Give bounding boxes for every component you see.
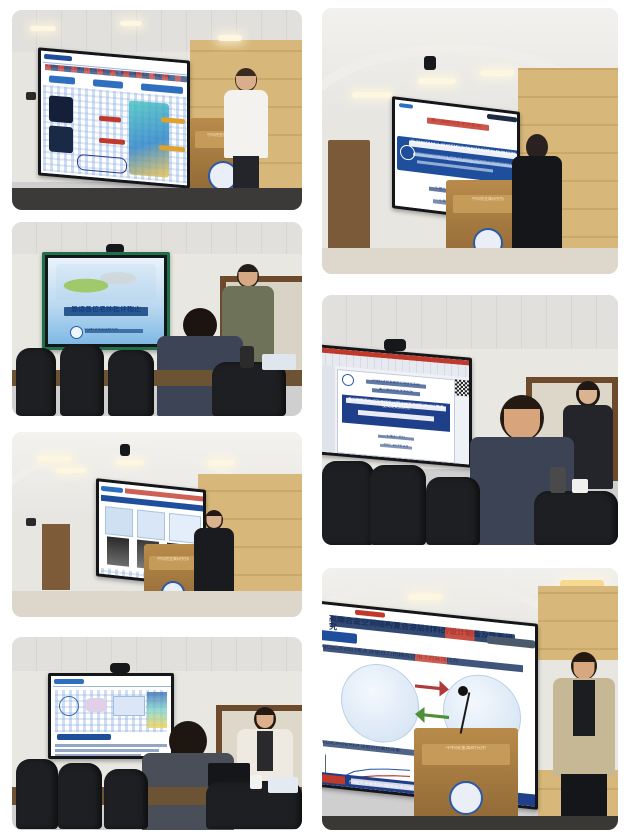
formula-band <box>57 734 111 740</box>
slide-tab <box>101 486 123 493</box>
office-chair <box>16 759 58 829</box>
slide-logo <box>399 103 413 109</box>
photo-1-scene: 大型科技项目成果转化存在成果转化率低、高附加值转化少、转化不畅。 <box>12 10 302 210</box>
slide-badge <box>487 114 517 123</box>
campus-render <box>56 264 156 300</box>
qr-code <box>455 379 469 396</box>
schematic-node <box>85 698 107 712</box>
ceiling-light <box>218 35 242 41</box>
paper-cup <box>250 775 262 789</box>
micrograph <box>107 536 129 566</box>
arrow-forward <box>415 678 449 698</box>
panel <box>105 506 133 537</box>
office-chair <box>322 461 374 545</box>
screen-surface: 大型科技项目成果转化存在成果转化率低、高附加值转化少、转化不畅。 <box>41 51 187 186</box>
slide-thumbnail-pane <box>322 364 335 453</box>
office-chair <box>58 763 102 829</box>
door <box>42 524 70 590</box>
closing-headline-pixels <box>64 307 148 316</box>
photo-3-scene: 恳请各位老师批评指正 中国科学院金属研究所 <box>12 222 302 416</box>
photo-7[interactable]: 高熵合金空洞结构复合涂层材料的设计制备及性能研究 AlCoCrFeNi HEA … <box>322 568 618 830</box>
screen-surface: 恳请各位老师批评指正 中国科学院金属研究所 <box>48 258 164 344</box>
slide-chip <box>93 79 123 89</box>
microphone-head <box>458 686 468 696</box>
presentation-screen: 大型科技项目成果转化存在成果转化率低、高附加值转化少、转化不畅。 <box>38 47 190 188</box>
ceiling-light <box>56 468 86 473</box>
floor <box>12 188 302 210</box>
office-chair <box>108 350 154 416</box>
presentation-screen: 中国科学院金属研究所研究生院 第八届研究生学术论坛 氢分解制氢反应在高熵氮化物@… <box>322 344 472 468</box>
podium-text: 中科院金属研究所 <box>422 746 509 751</box>
office-chair <box>370 465 426 545</box>
photo-4[interactable]: 中国科学院金属研究所研究生院 第八届研究生学术论坛 氢分解制氢反应在高熵氮化物@… <box>322 295 618 545</box>
panel <box>137 510 165 541</box>
name-card <box>268 777 298 793</box>
institute-emblem <box>70 326 83 339</box>
woman-inner-top <box>257 731 273 771</box>
photo-collage: 大型科技项目成果转化存在成果转化率低、高附加值转化少、转化不畅。 <box>0 0 630 840</box>
photo-4-scene: 中国科学院金属研究所研究生院 第八届研究生学术论坛 氢分解制氢反应在高熵氮化物@… <box>322 295 618 545</box>
photo-5[interactable]: 中科院金属研究所 <box>12 432 302 617</box>
office-chair <box>212 362 286 416</box>
slide-tab <box>54 679 84 684</box>
wall-speaker <box>26 92 36 100</box>
photo-5-scene: 中科院金属研究所 <box>12 432 302 617</box>
schematic-node <box>59 696 79 716</box>
thermos <box>240 346 254 368</box>
office-chair <box>16 348 56 416</box>
ceiling-light <box>38 456 72 461</box>
speaker <box>550 652 618 830</box>
photo-6[interactable] <box>12 637 302 830</box>
office-chair <box>534 491 618 545</box>
floor <box>322 248 618 274</box>
slide-canvas: 中国科学院金属研究所研究生院 第八届研究生学术论坛 氢分解制氢反应在高熵氮化物@… <box>337 369 455 463</box>
ceiling-light <box>208 460 234 466</box>
micrograph-thumb <box>49 125 73 153</box>
paper-cup <box>572 479 588 493</box>
door <box>328 140 370 250</box>
ceiling <box>12 222 302 256</box>
slide-technical-roadmap: 大型科技项目成果转化存在成果转化率低、高附加值转化少、转化不畅。 <box>41 51 187 186</box>
office-chair <box>426 477 480 545</box>
photo-2-scene: 第八届研究生学术论坛 高温超级分子复合材料的结构化设计与作用机制 Enginee… <box>322 8 618 274</box>
man-face <box>504 409 540 439</box>
slide-section-tag <box>355 610 385 618</box>
presentation-screen: 恳请各位老师批评指正 中国科学院金属研究所 <box>42 252 170 350</box>
ceiling-camera <box>120 444 130 456</box>
floor <box>322 816 618 830</box>
photo-3[interactable]: 恳请各位老师批评指正 中国科学院金属研究所 <box>12 222 302 416</box>
speaker-legs <box>233 156 259 190</box>
micrograph-thumb <box>49 95 73 123</box>
podium-text: 中科院金属研究所 <box>149 557 198 561</box>
screen-surface: 中国科学院金属研究所研究生院 第八届研究生学术论坛 氢分解制氢反应在高熵氮化物@… <box>322 347 469 464</box>
bullet-line <box>55 754 141 756</box>
schematic-block <box>113 696 145 716</box>
ceiling-camera <box>110 663 130 673</box>
ceiling-light <box>418 78 456 84</box>
speaker <box>218 68 274 190</box>
speaker-torso <box>224 90 268 158</box>
ceiling-light <box>120 21 142 26</box>
sphere-diagram-left <box>341 660 419 746</box>
slide-chip <box>49 75 75 84</box>
org-line-2-pixels <box>372 388 420 396</box>
photo-7-scene: 高熵合金空洞结构复合涂层材料的设计制备及性能研究 AlCoCrFeNi HEA … <box>322 568 618 830</box>
slide-powerpoint-edit: 中国科学院金属研究所研究生院 第八届研究生学术论坛 氢分解制氢反应在高熵氮化物@… <box>322 347 469 464</box>
ceiling-light <box>30 26 56 31</box>
ceiling-light <box>480 70 514 76</box>
speaker-inner-top <box>573 680 595 736</box>
institute-logo <box>449 781 483 815</box>
podium: 中科院金属研究所 <box>414 728 518 830</box>
photo-6-scene <box>12 637 302 830</box>
ceiling-camera <box>424 56 436 70</box>
office-chair <box>104 769 148 829</box>
photo-2[interactable]: 第八届研究生学术论坛 高温超级分子复合材料的结构化设计与作用机制 Enginee… <box>322 8 618 274</box>
slide-chip <box>141 83 183 94</box>
wall-speaker <box>26 518 36 526</box>
forum-line-pixels <box>427 117 489 131</box>
ceiling <box>322 295 618 351</box>
slide-tab <box>44 54 72 61</box>
slide-closing: 恳请各位老师批评指正 中国科学院金属研究所 <box>48 258 164 344</box>
thermos <box>550 467 566 493</box>
org-line-pixels <box>85 329 143 333</box>
central-graphic <box>129 100 169 177</box>
floor <box>12 591 302 617</box>
ceiling <box>12 637 302 673</box>
ceiling-camera <box>384 339 406 351</box>
ceiling-light <box>408 594 442 600</box>
ceiling-light <box>116 460 144 465</box>
photo-1[interactable]: 大型科技项目成果转化存在成果转化率低、高附加值转化少、转化不畅。 <box>12 10 302 210</box>
office-chair <box>60 344 104 416</box>
ceiling-light <box>352 92 392 98</box>
name-card <box>262 354 296 370</box>
